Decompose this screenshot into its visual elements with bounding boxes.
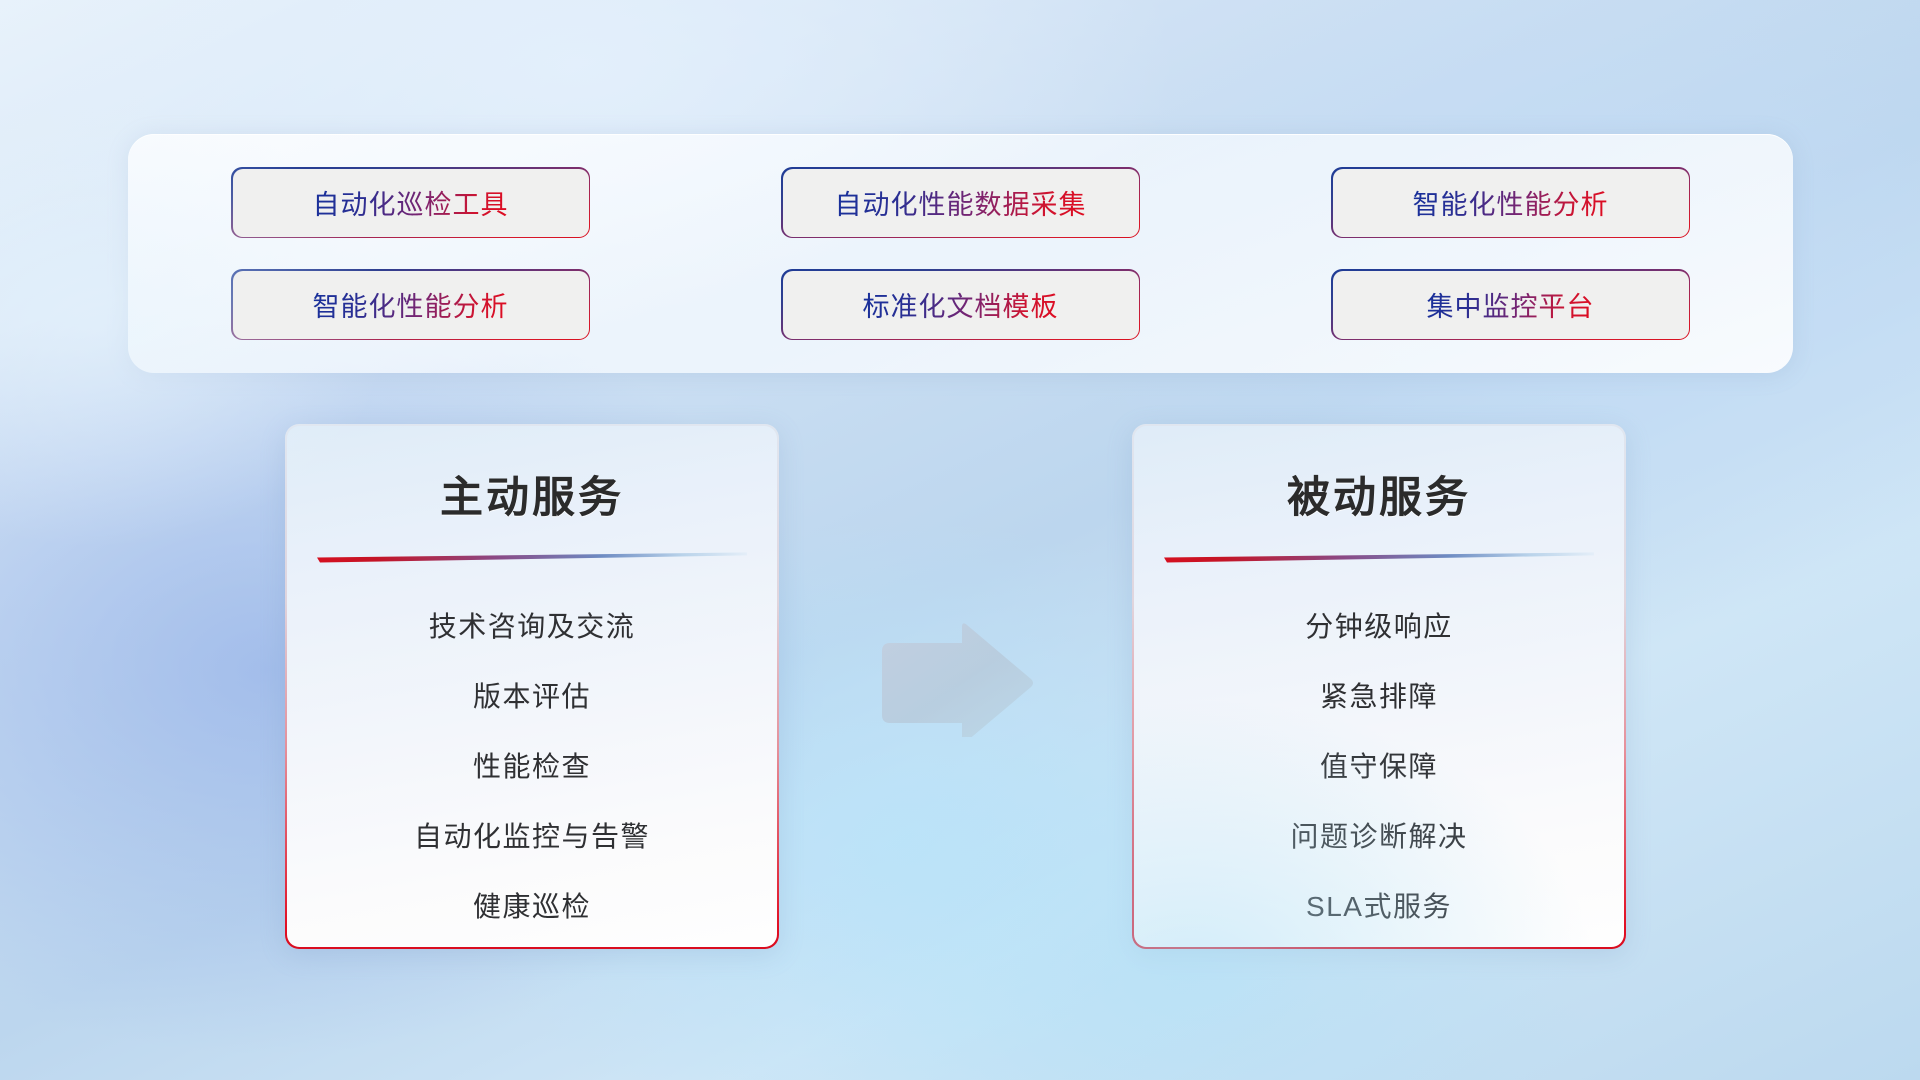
- capability-tag-fill: 智能化性能分析: [1333, 169, 1689, 237]
- list-item: 性能检查: [473, 732, 591, 802]
- capability-tag-grid: 自动化巡检工具 自动化性能数据采集 智能化性能分析 智能化性能分析: [233, 169, 1689, 339]
- capability-tag-label: 智能化性能分析: [313, 285, 509, 324]
- list-item: 健康巡检: [473, 872, 591, 942]
- capability-tag-label: 自动化性能数据采集: [835, 183, 1087, 222]
- service-card-title: 被动服务: [1287, 463, 1471, 525]
- service-card-body: 被动服务: [1134, 426, 1625, 948]
- list-item: 问题诊断解决: [1290, 802, 1467, 872]
- service-card-body: 主动服务: [287, 426, 778, 948]
- title-divider: [317, 552, 747, 564]
- list-item: 紧急排障: [1320, 662, 1438, 732]
- service-card-active[interactable]: 主动服务: [285, 424, 779, 949]
- service-card-passive[interactable]: 被动服务: [1132, 424, 1626, 949]
- flow-arrow-right-icon: [876, 621, 1036, 737]
- capability-tag-label: 自动化巡检工具: [313, 183, 509, 222]
- capability-tag-fill: 标准化文档模板: [783, 271, 1139, 339]
- capability-tag[interactable]: 智能化性能分析: [1333, 169, 1689, 237]
- capability-tag[interactable]: 自动化巡检工具: [233, 169, 589, 237]
- slide-canvas: 自动化巡检工具 自动化性能数据采集 智能化性能分析 智能化性能分析: [0, 0, 1920, 1080]
- service-card-title: 主动服务: [440, 463, 624, 525]
- capability-tag-fill: 集中监控平台: [1333, 271, 1689, 339]
- title-divider: [1164, 552, 1594, 564]
- list-item: 技术咨询及交流: [429, 592, 636, 662]
- service-card-list: 技术咨询及交流 版本评估 性能检查 自动化监控与告警 健康巡检: [287, 592, 778, 942]
- capability-tag-label: 智能化性能分析: [1413, 183, 1609, 222]
- list-item: 值守保障: [1320, 732, 1438, 802]
- list-item: 版本评估: [473, 662, 591, 732]
- list-item: SLA式服务: [1306, 872, 1452, 942]
- service-card-list: 分钟级响应 紧急排障 值守保障 问题诊断解决 SLA式服务: [1134, 592, 1625, 942]
- capability-tags-panel: 自动化巡检工具 自动化性能数据采集 智能化性能分析 智能化性能分析: [128, 134, 1793, 373]
- capability-tag-label: 标准化文档模板: [863, 285, 1059, 324]
- capability-tag-fill: 自动化巡检工具: [233, 169, 589, 237]
- capability-tag[interactable]: 集中监控平台: [1333, 271, 1689, 339]
- capability-tag[interactable]: 自动化性能数据采集: [783, 169, 1139, 237]
- capability-tag[interactable]: 智能化性能分析: [233, 271, 589, 339]
- capability-tag-fill: 智能化性能分析: [233, 271, 589, 339]
- capability-tag[interactable]: 标准化文档模板: [783, 271, 1139, 339]
- list-item: 自动化监控与告警: [414, 802, 650, 872]
- capability-tag-fill: 自动化性能数据采集: [783, 169, 1139, 237]
- list-item: 分钟级响应: [1305, 592, 1453, 662]
- capability-tag-label: 集中监控平台: [1427, 285, 1595, 324]
